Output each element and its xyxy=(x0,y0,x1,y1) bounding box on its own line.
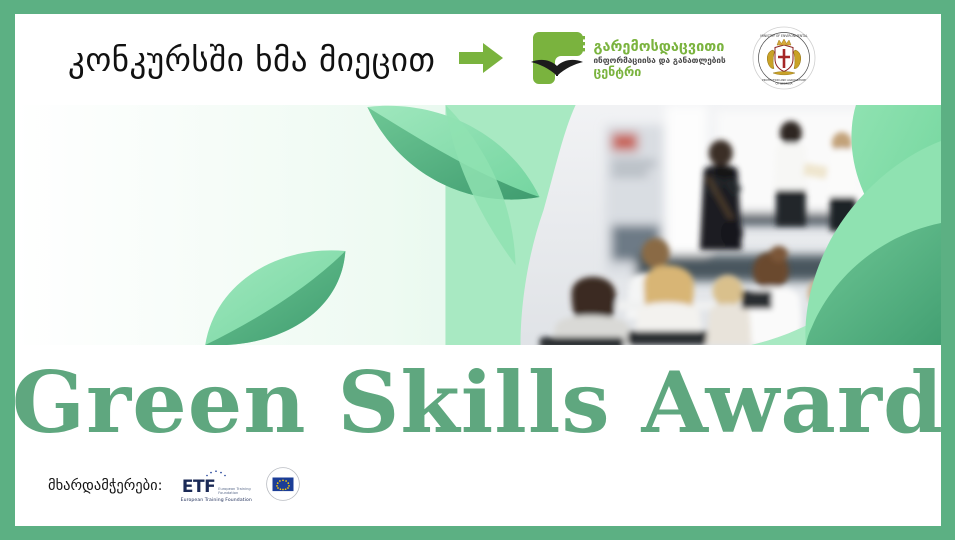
etf-caption: European Training Foundation xyxy=(181,498,252,503)
eiec-logo: გარემოსდაცვითი ინფორმაციისა და განათლები… xyxy=(527,28,725,92)
supporters-label: მხარდამჭერები: xyxy=(48,478,163,494)
poster-canvas: კონკურსში ხმა მიეცით xyxy=(15,14,941,526)
etf-tagline-line1: European Training xyxy=(218,487,250,491)
supporter-logos: ETF European Training Foundation Europea… xyxy=(181,467,300,505)
arrow-right-icon xyxy=(459,43,503,77)
etf-tagline: European Training Foundation xyxy=(218,487,250,496)
eu-flag-logo-icon xyxy=(266,467,300,505)
hero-graphic-band xyxy=(15,105,941,345)
svg-text:MINISTRY OF ENVIRONMENTAL: MINISTRY OF ENVIRONMENTAL xyxy=(760,34,808,38)
eiec-logo-line1: გარემოსდაცვითი xyxy=(593,40,725,55)
etf-logo: ETF European Training Foundation Europea… xyxy=(181,469,252,503)
header-bar: კონკურსში ხმა მიეცით xyxy=(15,14,941,105)
main-title-area: Green Skills Award xyxy=(15,345,941,460)
georgia-coat-of-arms-emblem-icon: MINISTRY OF ENVIRONMENTAL PROTECTION AND… xyxy=(752,26,816,94)
etf-tagline-line2: Foundation xyxy=(218,491,238,495)
supporters-footer: მხარდამჭერები: ETF European Training xyxy=(15,446,941,526)
poster-frame: კონკურსში ხმა მიეცით xyxy=(0,0,955,540)
eiec-logo-line3: ცენტრი xyxy=(593,65,725,79)
svg-text:OF GEORGIA: OF GEORGIA xyxy=(775,81,792,85)
eiec-leaf-book-logo-icon xyxy=(527,28,587,92)
etf-wordmark: ETF xyxy=(182,479,215,496)
header-title: კონკურსში ხმა მიეცით xyxy=(68,43,435,76)
eiec-logo-text: გარემოსდაცვითი ინფორმაციისა და განათლები… xyxy=(593,40,725,79)
page-title: Green Skills Award xyxy=(15,361,941,445)
